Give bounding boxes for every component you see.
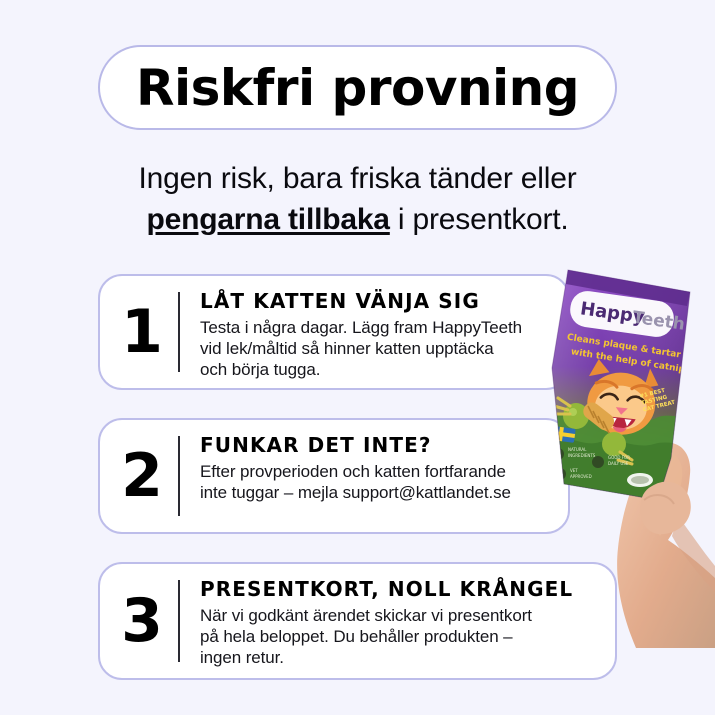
step-content-1: LÅT KATTEN VÄNJA SIG Testa i några dagar… — [180, 276, 568, 388]
subtitle: Ingen risk, bara friska tänder eller pen… — [0, 158, 715, 240]
step-heading-3: PRESENTKORT, NOLL KRÅNGEL — [200, 579, 603, 600]
product-tagline: Cleans plaque & tartar with the help of … — [566, 333, 686, 376]
hand-illustration — [617, 443, 715, 648]
step-content-2: FUNKAR DET INTE? Efter provperioden och … — [180, 420, 568, 532]
svg-text:APPROVED: APPROVED — [570, 474, 592, 479]
step-text-3-line-3: ingen retur. — [200, 647, 603, 668]
svg-text:#1 BEST: #1 BEST — [639, 388, 666, 400]
step-text-2: Efter provperioden och katten fortfarand… — [200, 461, 556, 503]
step-number-1: 1 — [100, 276, 178, 388]
subtitle-emphasis: pengarna tillbaka — [146, 203, 389, 236]
svg-text:NATURAL: NATURAL — [568, 447, 587, 452]
step-number-3: 3 — [100, 564, 178, 678]
svg-text:TASTING: TASTING — [641, 394, 669, 406]
best-taste-badge: #1 BEST TASTING CAT TREAT — [639, 386, 676, 413]
fingers-foreground — [640, 482, 691, 535]
subtitle-line-2: pengarna tillbaka i presentkort. — [0, 199, 715, 240]
step-text-1-line-2: vid lek/måltid så hinner katten upptäcka — [200, 338, 556, 359]
subtitle-line-1: Ingen risk, bara friska tänder eller — [0, 158, 715, 199]
brand-teeth-text: Teeth — [631, 308, 686, 335]
step-number-2: 2 — [100, 420, 178, 532]
step-text-3: När vi godkänt ärendet skickar vi presen… — [200, 605, 603, 668]
step-text-1-line-1: Testa i några dagar. Lägg fram HappyTeet… — [200, 317, 556, 338]
step-card-1: 1 LÅT KATTEN VÄNJA SIG Testa i några dag… — [98, 274, 570, 390]
step-text-3-line-2: på hela beloppet. Du behåller produkten … — [200, 626, 603, 647]
step-text-2-line-1: Efter provperioden och katten fortfarand… — [200, 461, 556, 482]
page-title: Riskfri provning — [136, 63, 579, 113]
svg-text:INGREDIENTS: INGREDIENTS — [568, 453, 596, 458]
svg-text:with the help of catnip: with the help of catnip — [570, 347, 686, 375]
step-card-3: 3 PRESENTKORT, NOLL KRÅNGEL När vi godkä… — [98, 562, 617, 680]
step-text-3-line-1: När vi godkänt ärendet skickar vi presen… — [200, 605, 603, 626]
step-text-1: Testa i några dagar. Lägg fram HappyTeet… — [200, 317, 556, 380]
brand-happy-text: Happy — [579, 298, 646, 328]
svg-text:VET: VET — [570, 468, 578, 473]
subtitle-line-2-tail: i presentkort. — [390, 203, 569, 236]
brand-label: Happy Teeth — [568, 289, 686, 339]
step-heading-2: FUNKAR DET INTE? — [200, 435, 556, 456]
promo-graphic: Riskfri provning Ingen risk, bara friska… — [0, 0, 715, 715]
svg-text:DAILY USE: DAILY USE — [608, 461, 629, 466]
svg-text:GOOD FOR: GOOD FOR — [608, 455, 630, 460]
cat-illustration — [583, 358, 660, 438]
step-card-2: 2 FUNKAR DET INTE? Efter provperioden oc… — [98, 418, 570, 534]
svg-text:CAT TREAT: CAT TREAT — [642, 400, 676, 414]
step-content-3: PRESENTKORT, NOLL KRÅNGEL När vi godkänt… — [180, 564, 615, 678]
step-text-2-line-2: inte tuggar – mejla support@kattlandet.s… — [200, 482, 556, 503]
svg-text:Cleans plaque & tartar: Cleans plaque & tartar — [566, 333, 682, 361]
step-text-1-line-3: och börja tugga. — [200, 359, 556, 380]
step-heading-1: LÅT KATTEN VÄNJA SIG — [200, 291, 556, 312]
title-pill: Riskfri provning — [98, 45, 617, 130]
